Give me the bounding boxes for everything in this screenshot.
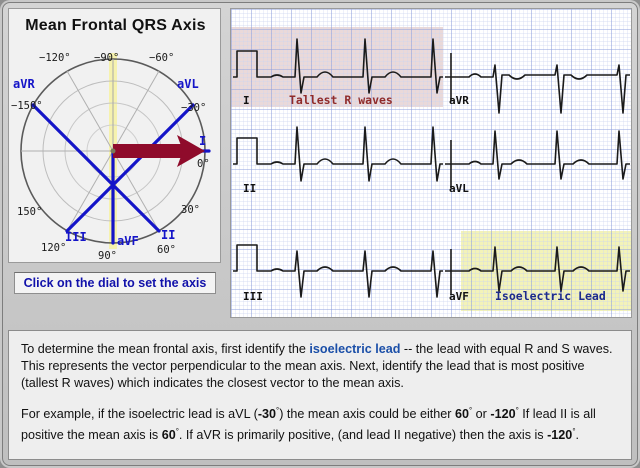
explanation-p2-part-c: or [472, 407, 490, 421]
annotation-isoelectric-lead: Isoelectric Lead [495, 289, 606, 303]
page-title: Mean Frontal QRS Axis [9, 17, 222, 35]
ecg-strip-panel[interactable]: I aVR II aVL III aVF Tallest R waves Iso… [230, 8, 632, 318]
angle-label-minus90: −90° [94, 52, 119, 64]
axis-dial-svg[interactable]: −120° −90° −60° −150° −30° 0° 30° 150° 1… [9, 39, 222, 261]
explanation-p2-part-a: For example, if the isoelectric lead is … [21, 407, 258, 421]
dial-center-point [111, 149, 116, 154]
explanation-value-minus120-b: -120 [547, 428, 572, 442]
explanation-value-60-b: 60 [162, 428, 176, 442]
ecg-lead-label-I: I [243, 94, 250, 107]
angle-label-30: 30° [181, 204, 200, 216]
angle-label-60: 60° [157, 244, 176, 256]
dial-lead-label-avl: aVL [177, 77, 199, 91]
dial-lead-label-avf: aVF [117, 234, 139, 248]
angle-label-150: 150° [17, 206, 42, 218]
explanation-value-minus120-a: -120 [490, 407, 515, 421]
application-window: Mean Frontal QRS Axis [0, 0, 640, 468]
explanation-p1-part-a: To determine the mean frontal axis, firs… [21, 342, 309, 356]
lead-vector-avl-iii [67, 105, 193, 231]
angle-label-minus120: −120° [39, 52, 71, 64]
explanation-value-minus30: -30 [258, 407, 276, 421]
explanation-p2-part-e: . If aVR is primarily positive, (and lea… [179, 428, 547, 442]
explanation-isoelectric-lead-term: isoelectric lead [309, 342, 400, 356]
ecg-lead-label-aVL: aVL [449, 182, 469, 195]
angle-label-90: 90° [98, 250, 117, 261]
angle-label-minus150: −150° [11, 100, 43, 112]
explanation-paragraph-1: To determine the mean frontal axis, firs… [21, 341, 619, 392]
ecg-lead-label-aVR: aVR [449, 94, 469, 107]
angle-label-minus60: −60° [149, 52, 174, 64]
explanation-box: To determine the mean frontal axis, firs… [8, 330, 632, 460]
axis-dial[interactable]: −120° −90° −60° −150° −30° 0° 30° 150° 1… [9, 39, 222, 261]
lead-vector-avr-ii [33, 105, 159, 231]
dial-lead-label-iii: III [65, 230, 87, 244]
lead-vector-lines [33, 105, 209, 243]
explanation-p2-part-b: ) the mean axis could be either [279, 407, 455, 421]
ecg-lead-label-III: III [243, 290, 263, 303]
explanation-p2-part-f: . [576, 428, 580, 442]
angle-label-minus30: −30° [181, 102, 206, 114]
ecg-lead-label-II: II [243, 182, 256, 195]
ecg-strip-svg[interactable]: I aVR II aVL III aVF Tallest R waves Iso… [231, 9, 631, 317]
mean-frontal-axis-dial-panel[interactable]: Mean Frontal QRS Axis [8, 8, 221, 263]
dial-lead-label-i: I [199, 134, 206, 148]
top-area: Mean Frontal QRS Axis [0, 0, 640, 325]
explanation-paragraph-2: For example, if the isoelectric lead is … [21, 402, 619, 444]
explanation-value-60-a: 60 [455, 407, 469, 421]
annotation-tallest-r-waves: Tallest R waves [289, 93, 393, 107]
dial-lead-label-ii: II [161, 228, 175, 242]
angle-label-0: 0° [197, 158, 210, 170]
dial-hint-bar[interactable]: Click on the dial to set the axis [14, 272, 216, 294]
ecg-lead-label-aVF: aVF [449, 290, 469, 303]
dial-lead-label-avr: aVR [13, 77, 35, 91]
dial-hint-label: Click on the dial to set the axis [24, 276, 207, 290]
angle-label-120: 120° [41, 242, 66, 254]
